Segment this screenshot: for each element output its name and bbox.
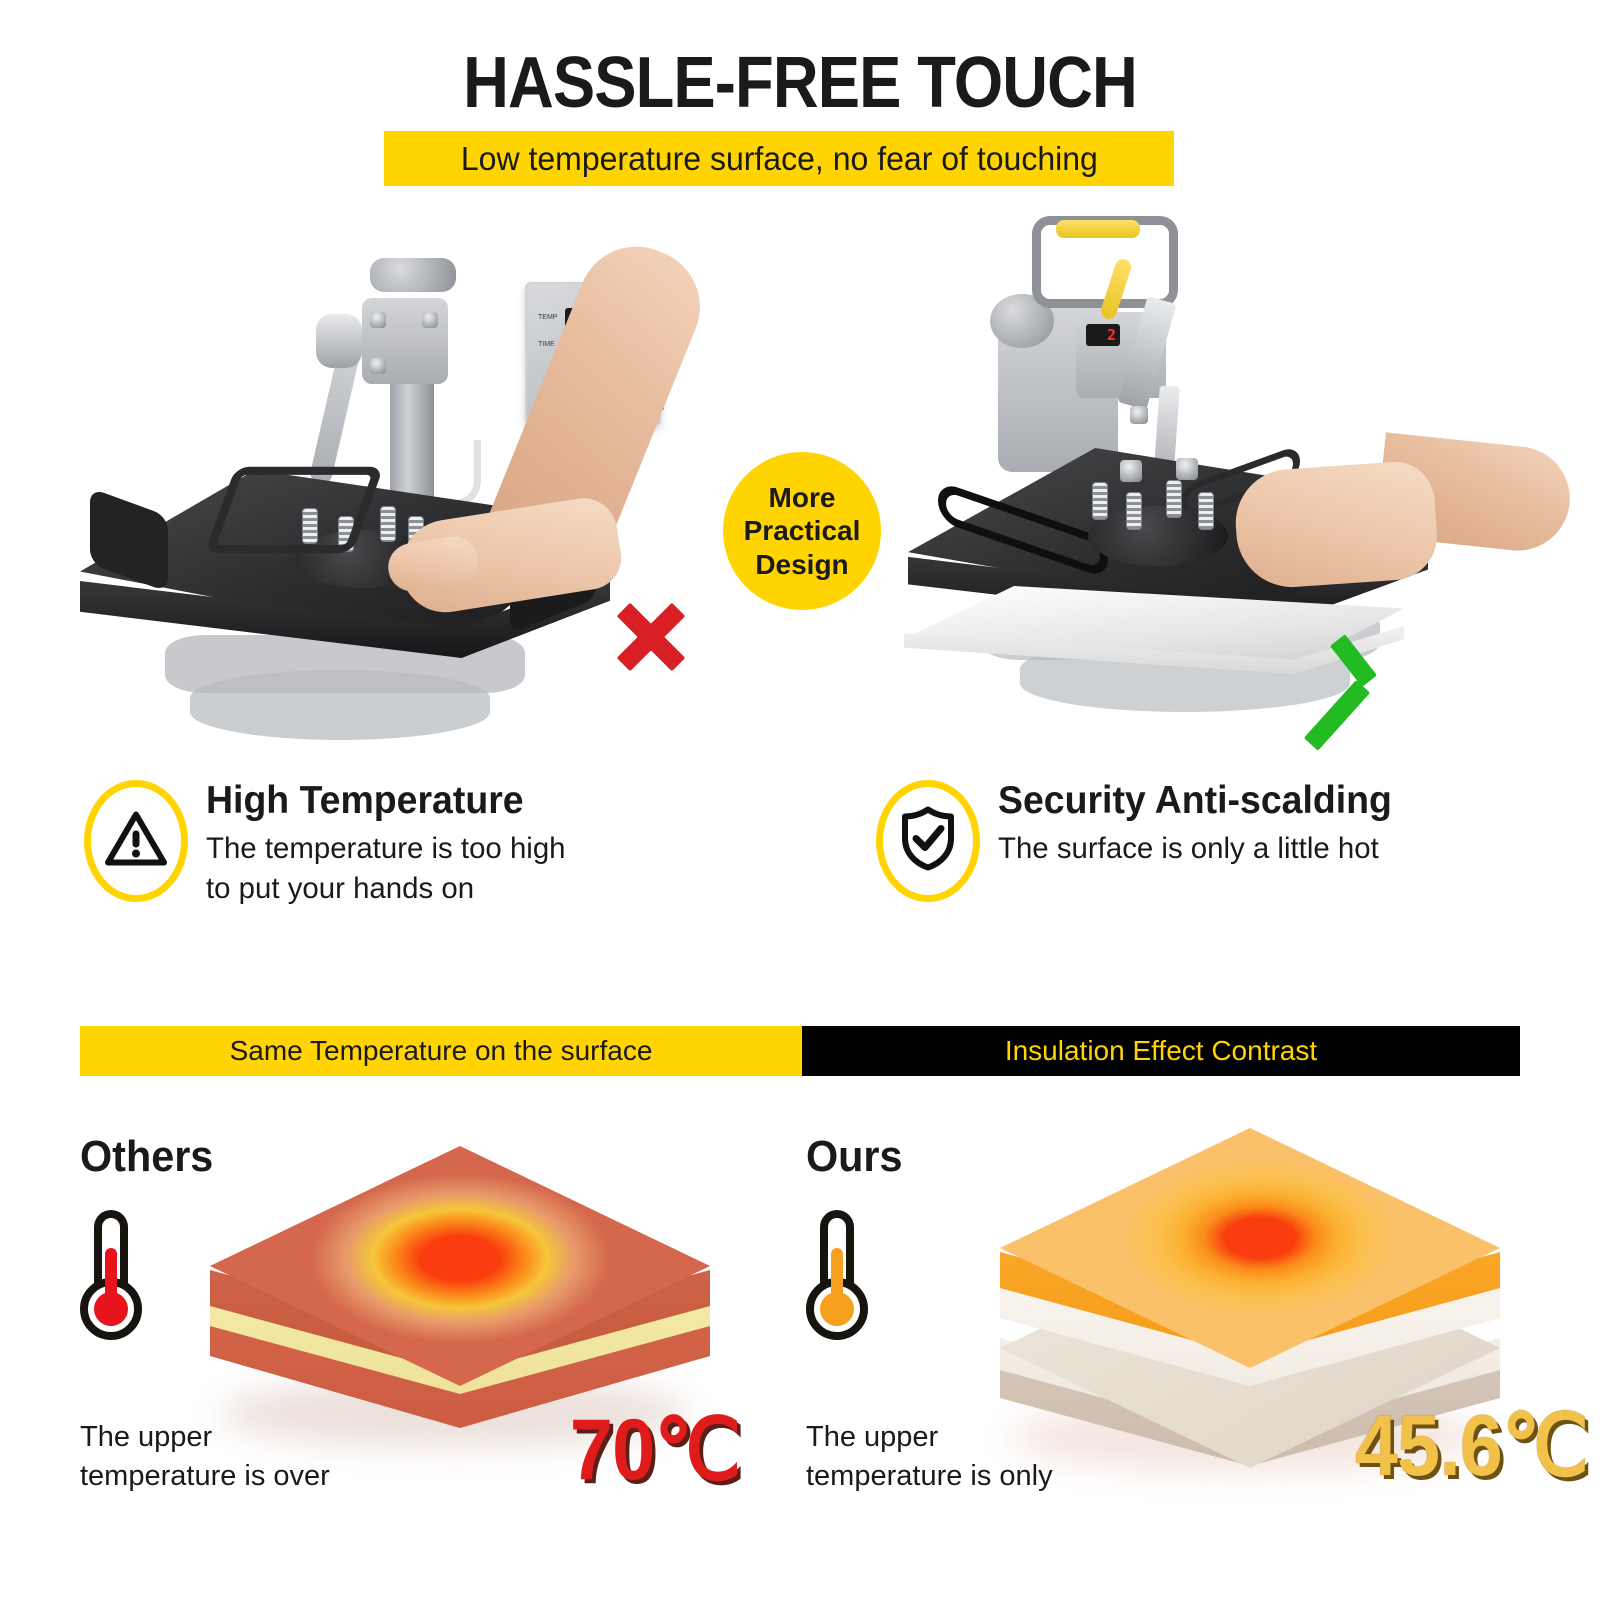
press-top-knob: [370, 258, 456, 292]
controller-time-label: TIME: [538, 341, 555, 348]
more-practical-design-badge: More Practical Design: [723, 452, 881, 610]
press-lever-clamp: [316, 314, 362, 368]
panel-note-others-line1: The upper: [80, 1418, 410, 1457]
badge-line-1: More: [744, 481, 861, 514]
thermometer-fill-bulb-ours: [820, 1292, 854, 1326]
warning-triangle-icon: [105, 811, 167, 872]
feature-heading-right: Security Anti-scalding: [998, 780, 1392, 823]
controller-temp-label: TEMP: [538, 314, 557, 321]
platen-spring-ours-3: [1166, 480, 1182, 518]
person-hand-ours: [1232, 459, 1440, 591]
platen-bolt-ours: [1120, 460, 1142, 482]
panel-note-others-line2: temperature is over: [80, 1457, 410, 1496]
subtitle-text: Low temperature surface, no fear of touc…: [460, 140, 1097, 178]
linkage-bolt: [1130, 406, 1148, 424]
panel-others: Others The upper temperature is over 70℃: [0, 1100, 800, 1570]
thermometer-warm-icon: [806, 1210, 868, 1342]
platen-spring-ours-1: [1092, 482, 1108, 520]
feature-text-block-left: High Temperature The temperature is too …: [206, 780, 573, 910]
feature-security-anti-scalding: Security Anti-scalding The surface is on…: [876, 780, 1576, 902]
thermometer-fill-bulb-others: [94, 1292, 128, 1326]
handle-yellow-grip: [1056, 220, 1140, 238]
shield-ring: [876, 780, 980, 902]
platen-side-grip-left: [90, 488, 168, 592]
infographic-page: HASSLE-FREE TOUCH Low temperature surfac…: [0, 0, 1600, 1600]
comparison-photo-area: TEMP 74 TIME 5 TEMP SET TIME: [0, 200, 1600, 760]
panel-ours: Ours The upper temperature is only 4: [800, 1100, 1600, 1570]
page-title: HASSLE-FREE TOUCH: [96, 42, 1504, 124]
compare-bar-left: Same Temperature on the surface: [80, 1026, 802, 1076]
feature-body-right-line1: The surface is only a little hot: [998, 829, 1400, 870]
panel-value-others: 70℃: [570, 1400, 740, 1500]
platen-spring-3: [380, 506, 396, 542]
panel-note-ours-line2: temperature is only: [806, 1457, 1146, 1496]
panel-note-ours: The upper temperature is only: [806, 1418, 1146, 1496]
heat-press-others-photo: TEMP 74 TIME 5 TEMP SET TIME: [70, 240, 690, 760]
badge-line-3: Design: [744, 548, 861, 581]
panel-label-ours: Ours: [806, 1132, 903, 1182]
feature-high-temperature: High Temperature The temperature is too …: [84, 780, 784, 910]
platen-spring-ours-2: [1126, 492, 1142, 530]
panel-value-ours: 45.6℃: [1355, 1396, 1588, 1496]
panel-note-ours-line1: The upper: [806, 1418, 1146, 1457]
thermometer-hot-icon: [80, 1210, 142, 1342]
feature-body-left-line2: to put your hands on: [206, 869, 566, 910]
heat-press-ours-photo: 2: [880, 210, 1540, 750]
feature-body-left-line1: The temperature is too high: [206, 829, 566, 870]
press-display-ours: 2: [1086, 324, 1120, 346]
compare-bar-right: Insulation Effect Contrast: [802, 1026, 1520, 1076]
shield-check-icon: [899, 806, 957, 877]
pivot-bolt-2: [422, 312, 438, 328]
comparison-header-bar: Same Temperature on the surface Insulati…: [80, 1026, 1520, 1076]
pivot-bolt: [370, 312, 386, 328]
platen-spring-ours-4: [1198, 492, 1214, 530]
red-x-icon: [612, 598, 690, 676]
warning-ring: [84, 780, 188, 902]
green-check-icon: [1324, 618, 1420, 696]
platen-handle-others[interactable]: [204, 467, 383, 553]
feature-text-block-right: Security Anti-scalding The surface is on…: [998, 780, 1408, 869]
pivot-bolt-3: [370, 358, 386, 374]
platen-bolt-ours-2: [1176, 458, 1198, 480]
panel-note-others: The upper temperature is over: [80, 1418, 410, 1496]
subtitle-banner: Low temperature surface, no fear of touc…: [384, 131, 1174, 186]
feature-heading-left: High Temperature: [206, 780, 558, 823]
badge-line-2: Practical: [744, 514, 861, 547]
